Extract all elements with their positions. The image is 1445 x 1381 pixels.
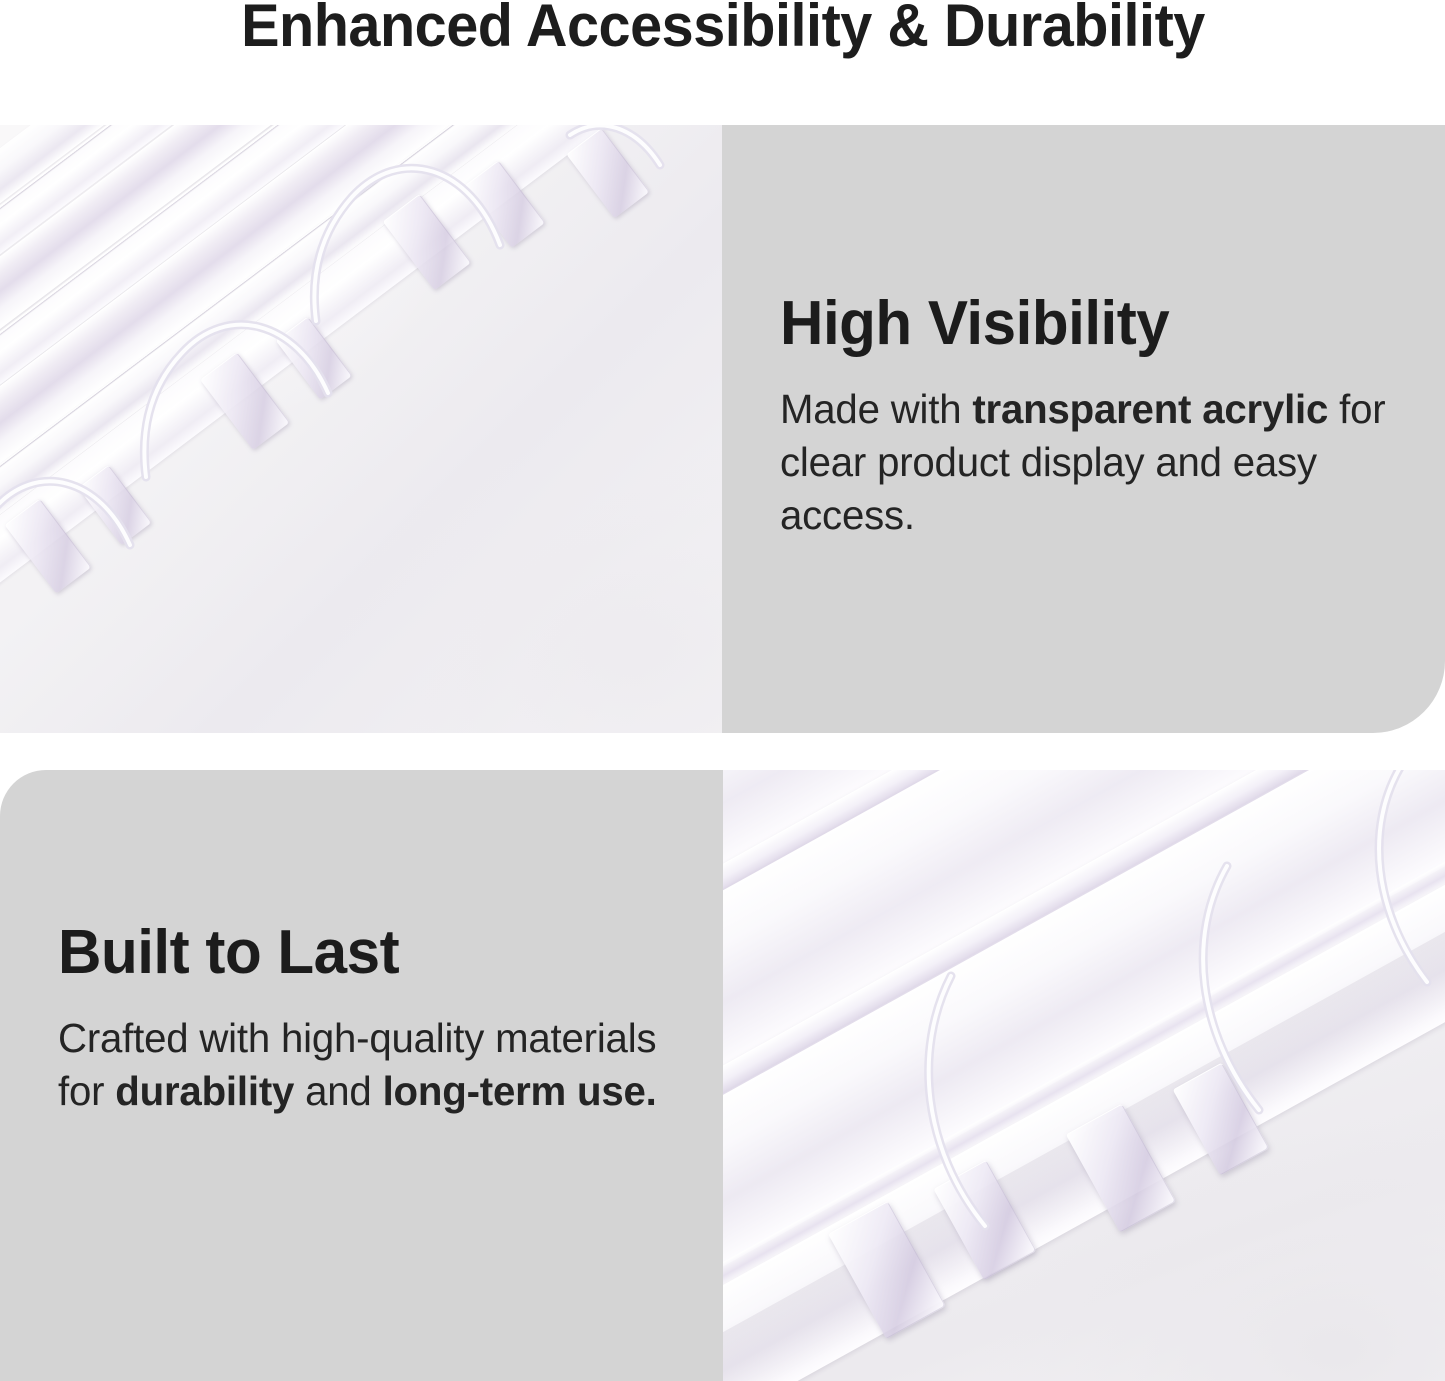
feature-body: Made with transparent acrylic for clear … bbox=[780, 383, 1396, 542]
product-photo-divider-channels bbox=[723, 770, 1445, 1381]
product-photo-shelf-pushers bbox=[0, 125, 722, 733]
emphasis-long-term-use: long-term use. bbox=[383, 1068, 657, 1114]
feature-section-built-to-last: Built to Last Crafted with high-quality … bbox=[0, 770, 1445, 1381]
feature-text-panel-built-to-last: Built to Last Crafted with high-quality … bbox=[0, 770, 723, 1381]
pusher-wire bbox=[0, 125, 722, 733]
photo-acrylic-channels bbox=[723, 770, 1445, 1381]
feature-body: Crafted with high-quality materials for … bbox=[58, 1012, 674, 1118]
feature-heading: Built to Last bbox=[58, 920, 668, 986]
feature-text-panel-high-visibility: High Visibility Made with transparent ac… bbox=[722, 125, 1445, 733]
text-block: High Visibility Made with transparent ac… bbox=[780, 291, 1409, 542]
text-block: Built to Last Crafted with high-quality … bbox=[58, 920, 687, 1118]
feature-section-high-visibility: High Visibility Made with transparent ac… bbox=[0, 125, 1445, 733]
feature-heading: High Visibility bbox=[780, 291, 1390, 357]
page-title-bar: Enhanced Accessibility & Durability bbox=[0, 0, 1445, 118]
emphasis-transparent-acrylic: transparent acrylic bbox=[972, 386, 1328, 432]
emphasis-durability: durability bbox=[115, 1068, 294, 1114]
page-title: Enhanced Accessibility & Durability bbox=[241, 0, 1205, 56]
photo-acrylic-pushers bbox=[0, 125, 722, 733]
pusher-spring-arm bbox=[723, 770, 1445, 1381]
product-feature-infographic: Enhanced Accessibility & Durability bbox=[0, 0, 1445, 1381]
